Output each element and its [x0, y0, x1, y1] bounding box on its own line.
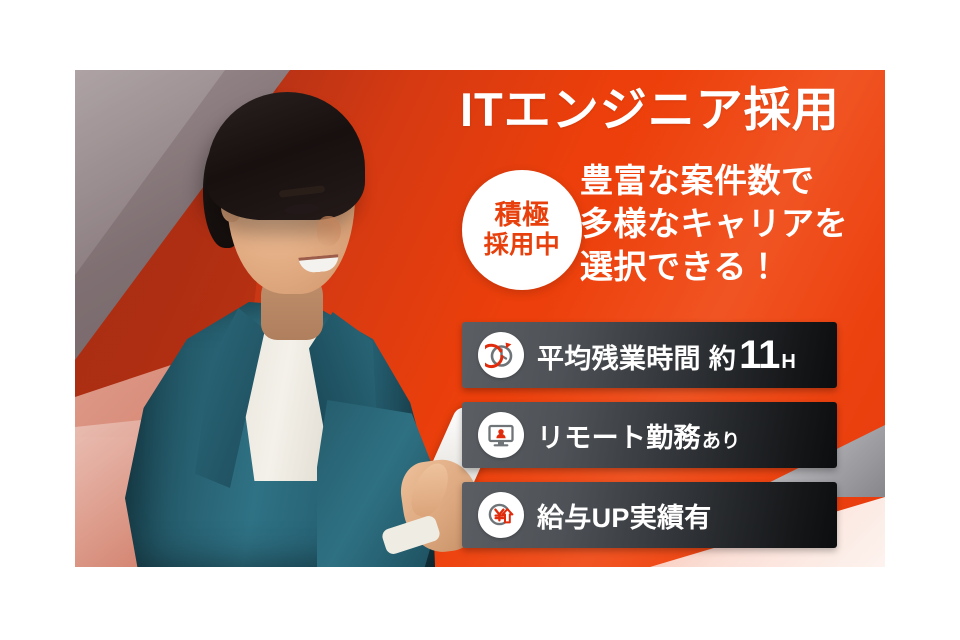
badge-line-2: 採用中 [484, 232, 561, 259]
subcopy-line-2: 多様なキャリアを [580, 203, 885, 246]
remote-monitor-icon [478, 412, 524, 458]
recruitment-banner: ITエンジニア採用 豊富な案件数で 多様なキャリアを 選択できる！ 積極 採用中 [75, 70, 885, 567]
overtime-approx: 約 [709, 337, 736, 376]
remote-label: リモート勤務 [537, 416, 701, 455]
feature-pill-overtime[interactable]: 平均残業時間 約 11 H [462, 322, 837, 388]
subcopy-line-1: 豊富な案件数で [580, 160, 885, 203]
headline-block: ITエンジニア採用 [460, 85, 880, 135]
hair [207, 92, 365, 220]
page-title: ITエンジニア採用 [460, 85, 880, 135]
status-badge: 積極 採用中 [462, 170, 582, 290]
feature-list: 平均残業時間 約 11 H リ [462, 322, 837, 562]
feature-label-remote: リモート勤務 あり [537, 416, 740, 455]
badge-line-1: 積極 [495, 201, 550, 230]
feature-pill-remote[interactable]: リモート勤務 あり [462, 402, 837, 468]
subcopy-line-3: 選択できる！ [580, 246, 885, 289]
feature-pill-salary[interactable]: 給与UP実績有 [462, 482, 837, 548]
salary-label: 給与UP実績有 [537, 496, 712, 535]
overtime-label: 平均残業時間 [537, 337, 701, 376]
feature-label-salary: 給与UP実績有 [537, 496, 712, 535]
businessman-photo [103, 70, 503, 567]
yen-up-icon [478, 492, 524, 538]
nose [317, 216, 341, 246]
page-canvas: ITエンジニア採用 豊富な案件数で 多様なキャリアを 選択できる！ 積極 採用中 [0, 0, 960, 640]
remote-suffix: あり [702, 426, 741, 453]
feature-label-overtime: 平均残業時間 約 11 H [537, 333, 796, 378]
overtime-value: 11 [739, 333, 779, 378]
clock-icon [478, 332, 524, 378]
overtime-unit: H [781, 351, 796, 374]
subcopy-block: 豊富な案件数で 多様なキャリアを 選択できる！ [580, 160, 885, 289]
